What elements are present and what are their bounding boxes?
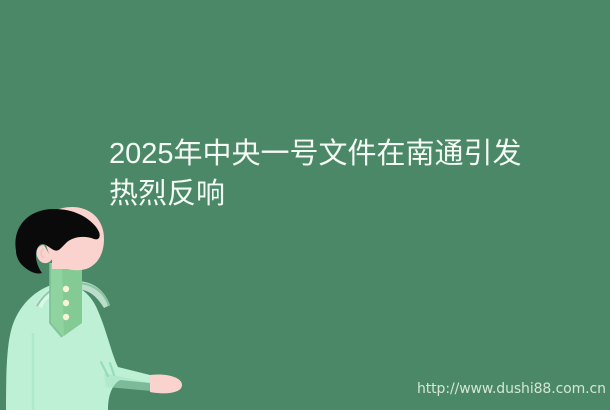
page-title: 2025年中央一号文件在南通引发热烈反响 [109, 134, 529, 214]
button-group [63, 286, 69, 320]
button-3 [63, 314, 69, 320]
person-illustration [0, 205, 210, 410]
button-1 [63, 286, 69, 292]
watermark-url: http://www.dushi88.com.cn [417, 381, 606, 397]
button-2 [63, 300, 69, 306]
hand-shape [150, 374, 182, 393]
news-thumbnail-banner: 2025年中央一号文件在南通引发热烈反响 http://www.dushi88.… [0, 0, 610, 410]
